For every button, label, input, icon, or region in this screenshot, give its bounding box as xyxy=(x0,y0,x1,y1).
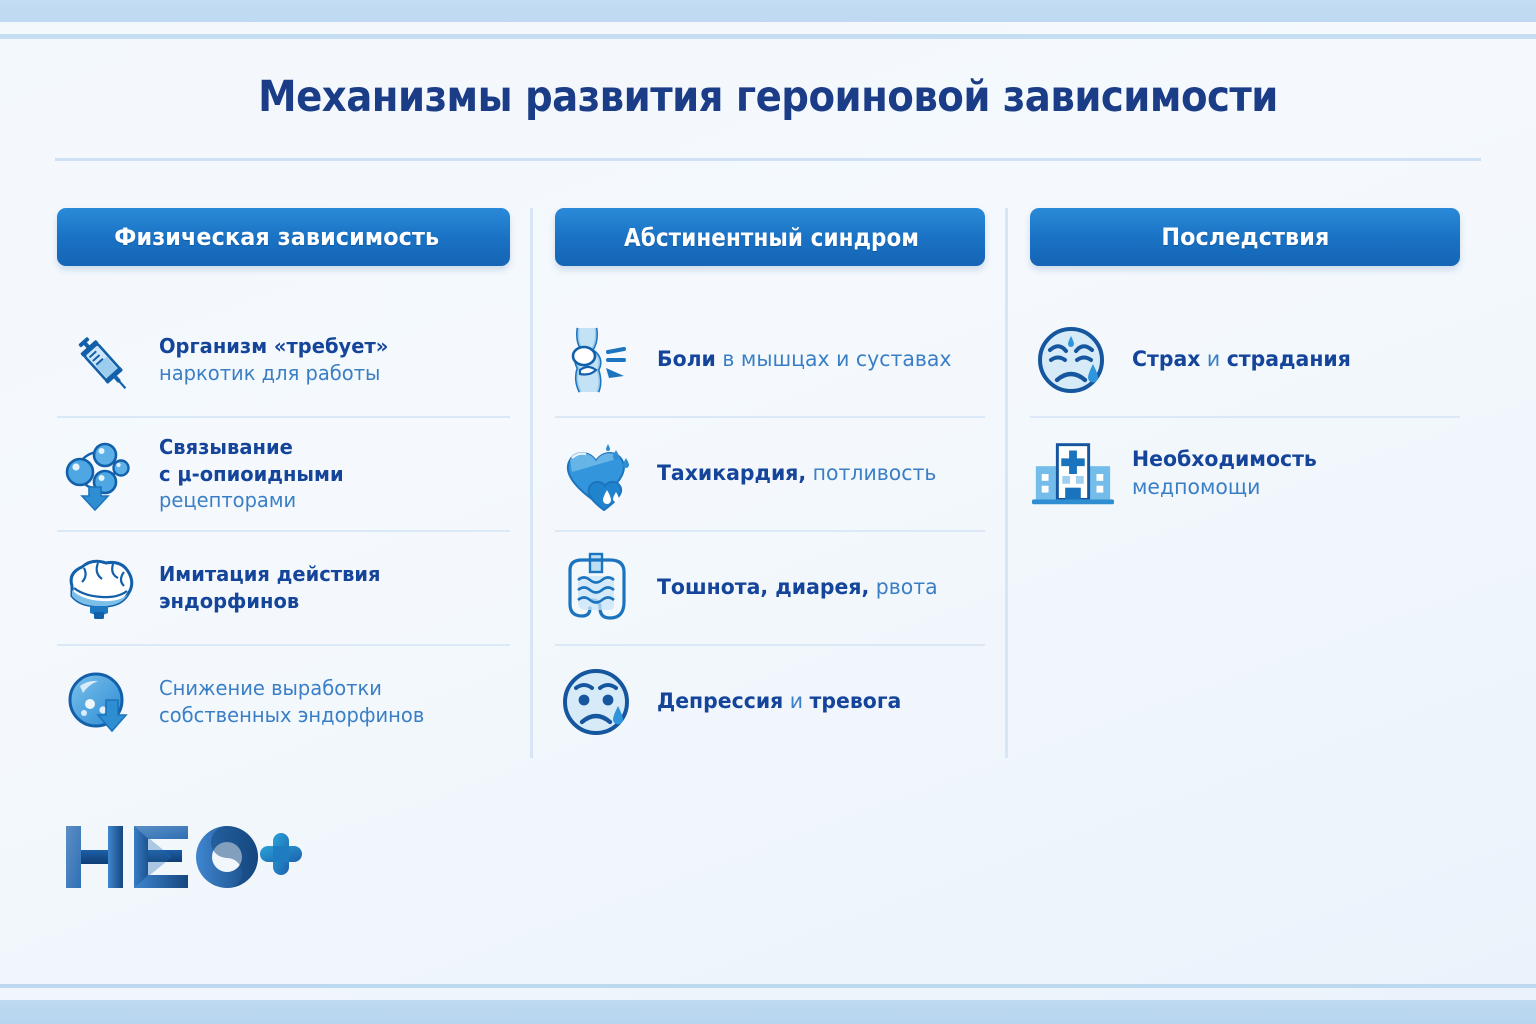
item-line-regular: медпомощи xyxy=(1132,475,1260,500)
top-decor-rule xyxy=(0,34,1536,39)
column-header-label: Последствия xyxy=(1161,223,1329,251)
list-item-text: Тошнота, диарея, рвота xyxy=(657,574,938,602)
sad-face-tear-icon xyxy=(555,659,641,745)
item-list-withdrawal-syndrome: Боли в мышцах и суставах xyxy=(555,304,985,758)
list-item-text: Необходимость медпомощи xyxy=(1132,446,1317,502)
column-physical-dependence: Физическая зависимость xyxy=(55,208,530,758)
hospital-icon xyxy=(1030,431,1116,517)
list-item[interactable]: Необходимость медпомощи xyxy=(1030,416,1460,530)
title-divider xyxy=(55,158,1481,161)
heart-sweat-icon xyxy=(555,431,641,517)
bottom-decor-rule xyxy=(0,984,1536,988)
brand-logo[interactable] xyxy=(62,818,302,896)
column-header-physical-dependence[interactable]: Физическая зависимость xyxy=(57,208,510,266)
list-item[interactable]: Тошнота, диарея, рвота xyxy=(555,530,985,644)
item-line-bold: Тошнота, диарея, xyxy=(657,575,869,600)
endorphin-decrease-icon xyxy=(57,659,143,745)
item-line-regular: Снижение выработки xyxy=(159,676,382,700)
item-line-bold: Страх xyxy=(1132,347,1200,372)
list-item-text: Тахикардия, потливость xyxy=(657,460,936,488)
list-item[interactable]: Связывание с μ-опиоидными рецепторами xyxy=(57,416,510,530)
item-line-bold: Организм «требует» xyxy=(159,334,388,358)
list-item[interactable]: Страх и страдания xyxy=(1030,304,1460,416)
list-item-text: Депрессия и тревога xyxy=(657,688,901,716)
item-list-physical-dependence: Организм «требует» наркотик для работы xyxy=(57,304,510,758)
list-item[interactable]: Боли в мышцах и суставах xyxy=(555,304,985,416)
item-line-regular: и xyxy=(783,689,809,714)
list-item-text: Имитация действия эндорфинов xyxy=(159,561,381,614)
item-line-regular: наркотик для работы xyxy=(159,361,380,385)
list-item-text: Связывание с μ-опиоидными рецепторами xyxy=(159,434,344,514)
columns-container: Физическая зависимость xyxy=(55,208,1481,758)
list-item[interactable]: Имитация действия эндорфинов xyxy=(57,530,510,644)
column-withdrawal-syndrome: Абстинентный синдром xyxy=(530,208,1005,758)
item-line-bold: Имитация действия xyxy=(159,562,381,586)
page-title: Механизмы развития героиновой зависимост… xyxy=(77,72,1459,122)
bottom-decor-band xyxy=(0,1000,1536,1024)
syringe-icon xyxy=(57,317,143,403)
item-line-regular: рецепторами xyxy=(159,488,296,512)
column-header-withdrawal-syndrome[interactable]: Абстинентный синдром xyxy=(555,208,985,266)
list-item[interactable]: Снижение выработки собственных эндорфино… xyxy=(57,644,510,758)
item-line-bold: с μ-опиоидными xyxy=(159,462,344,486)
item-line-bold: Депрессия xyxy=(657,689,783,714)
column-header-consequences[interactable]: Последствия xyxy=(1030,208,1460,266)
item-line-bold: Тахикардия, xyxy=(657,461,806,486)
infographic-poster: Механизмы развития героиновой зависимост… xyxy=(0,0,1536,1024)
item-line-regular: в мышцах и суставах xyxy=(716,347,952,372)
item-line-bold: тревога xyxy=(810,689,902,714)
column-header-label: Абстинентный синдром xyxy=(624,223,919,252)
knee-joint-pain-icon xyxy=(555,317,641,403)
list-item-text: Организм «требует» наркотик для работы xyxy=(159,333,388,386)
opioid-receptor-molecule-icon xyxy=(57,431,143,517)
list-item-text: Страх и страдания xyxy=(1132,346,1351,374)
list-item[interactable]: Депрессия и тревога xyxy=(555,644,985,758)
item-line-regular: и xyxy=(1200,347,1226,372)
item-list-consequences: Страх и страдания xyxy=(1030,304,1460,530)
column-header-label: Физическая зависимость xyxy=(114,223,439,251)
page-title-wrap: Механизмы развития героиновой зависимост… xyxy=(0,72,1536,122)
column-consequences: Последствия xyxy=(1005,208,1480,758)
intestines-icon xyxy=(555,545,641,631)
list-item[interactable]: Организм «требует» наркотик для работы xyxy=(57,304,510,416)
top-decor-band xyxy=(0,0,1536,22)
list-item[interactable]: Тахикардия, потливость xyxy=(555,416,985,530)
anguished-face-icon xyxy=(1030,317,1116,403)
brain-icon xyxy=(57,545,143,631)
list-item-text: Боли в мышцах и суставах xyxy=(657,346,952,374)
item-line-regular: потливость xyxy=(806,461,936,486)
list-item-text: Снижение выработки собственных эндорфино… xyxy=(159,675,424,728)
item-line-bold: эндорфинов xyxy=(159,589,299,613)
item-line-bold: страдания xyxy=(1227,347,1351,372)
item-line-bold: Боли xyxy=(657,347,716,372)
item-line-bold: Необходимость xyxy=(1132,447,1317,472)
item-line-regular: собственных эндорфинов xyxy=(159,703,424,727)
item-line-regular: рвота xyxy=(869,575,937,600)
item-line-bold: Связывание xyxy=(159,435,293,459)
